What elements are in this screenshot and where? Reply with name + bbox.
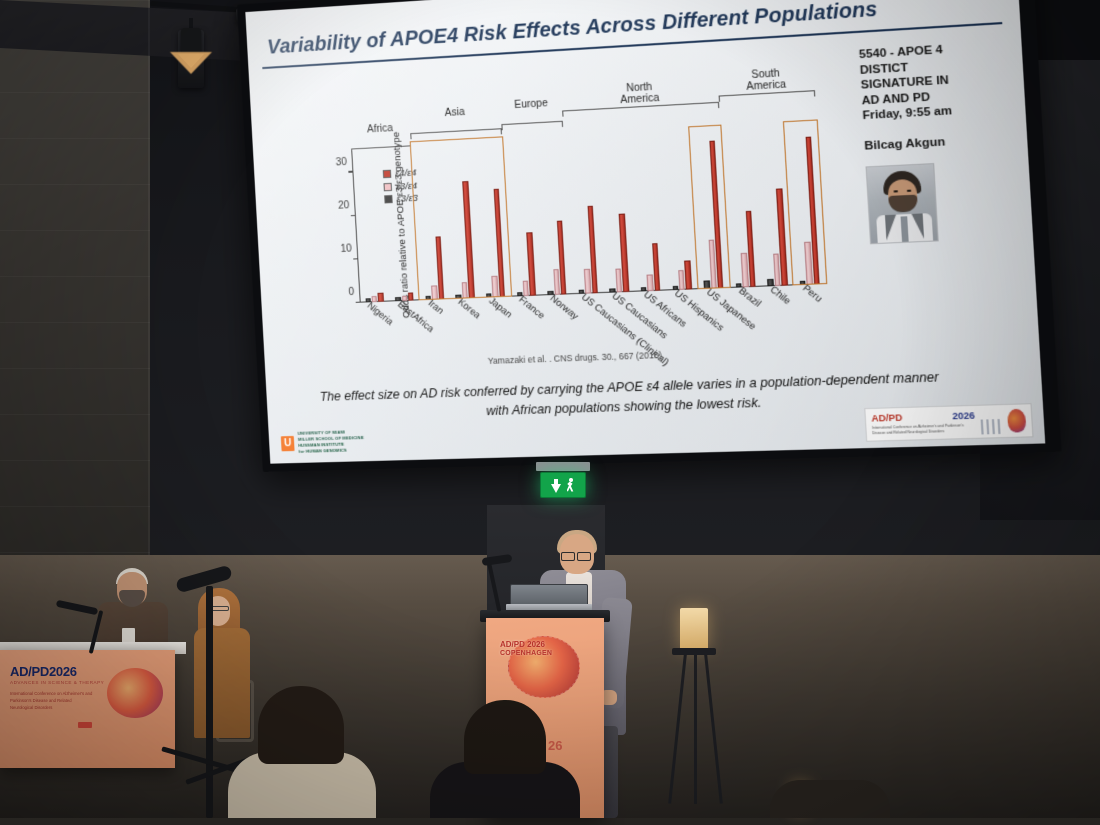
table-adpd-subtitle: International Conference on Alzheimer's … bbox=[10, 690, 94, 711]
bar-44-Korea bbox=[462, 181, 474, 298]
university-logo-text: UNIVERSITY OF MIAMI MILLER SCHOOL OF MED… bbox=[297, 429, 364, 455]
running-figure-icon bbox=[566, 478, 577, 493]
chart-plot-area: Odds ratio relative to APOE ε3/ε3 genoty… bbox=[351, 126, 826, 303]
x-label-Peru: Peru bbox=[801, 283, 825, 304]
brain-icon bbox=[1007, 409, 1027, 433]
audience-member-head bbox=[464, 700, 546, 774]
panelist-2-body bbox=[194, 628, 250, 738]
speaker-glasses bbox=[561, 552, 591, 559]
slide-caption: The effect size on AD risk conferred by … bbox=[312, 367, 948, 425]
table-adpd-letters: AD/PD bbox=[10, 664, 49, 679]
podium-branding: AD/PD 2026COPENHAGEN bbox=[500, 640, 552, 659]
lecture-hall-scene: Variability of APOE4 Risk Effects Across… bbox=[0, 0, 1100, 818]
boom-mic-pole bbox=[206, 586, 213, 818]
y-tick-10: 10 bbox=[340, 243, 352, 255]
table-adpd-year: 2026 bbox=[49, 664, 77, 679]
panel-table-banner: AD/PD2026 ADVANCES IN SCIENCE & THERAPY … bbox=[0, 650, 175, 768]
presenter-headshot bbox=[866, 163, 939, 244]
audience-member-body bbox=[770, 780, 890, 818]
y-tick-mark bbox=[348, 171, 353, 172]
table-brain-icon bbox=[107, 668, 163, 718]
source-citation: Yamazaki et al. . CNS drugs. 30., 667 (2… bbox=[488, 350, 665, 366]
session-info-panel: 5540 - APOE 4 DISTICT SIGNATURE IN AD AN… bbox=[859, 39, 1018, 245]
skyline-icon bbox=[981, 419, 1003, 434]
adpd-conference-banner: 2026 AD/PD International Conference on A… bbox=[864, 403, 1033, 442]
legend-item: ε3/ε3 bbox=[384, 193, 418, 205]
audience-member-head bbox=[258, 686, 344, 764]
legend-swatch bbox=[384, 195, 393, 203]
table-adpd-wordmark: AD/PD2026 bbox=[10, 664, 77, 679]
y-tick-mark bbox=[351, 214, 356, 215]
presenter-name: Bilcag Akgun bbox=[864, 133, 1012, 153]
region-bracket-Asia bbox=[410, 128, 502, 139]
chart-legend: ε4/ε4ε3/ε4ε3/ε3 bbox=[383, 167, 419, 207]
podium-year: 26 bbox=[548, 738, 562, 753]
legend-item: ε3/ε4 bbox=[383, 180, 417, 192]
y-tick-30: 30 bbox=[335, 156, 347, 168]
presentation-slide: Variability of APOE4 Risk Effects Across… bbox=[245, 0, 1045, 464]
adpd-letters: AD/PD bbox=[871, 412, 903, 423]
legend-label: ε3/ε4 bbox=[396, 180, 418, 191]
institute-line-2: for HUMAN GENOMICS bbox=[298, 447, 364, 455]
table-chip bbox=[78, 722, 92, 728]
legend-swatch bbox=[383, 170, 392, 178]
x-label-Korea: Korea bbox=[456, 297, 482, 321]
region-bracket-Europe bbox=[501, 121, 563, 130]
legend-swatch bbox=[383, 182, 392, 190]
x-label-Nigeria: Nigeria bbox=[366, 300, 396, 327]
sign-housing bbox=[536, 462, 590, 471]
emergency-exit-sign bbox=[540, 472, 586, 498]
table-lamp bbox=[680, 608, 708, 650]
x-label-Chile: Chile bbox=[768, 284, 793, 306]
y-tick-20: 20 bbox=[338, 199, 350, 211]
projection-screen: Variability of APOE4 Risk Effects Across… bbox=[250, 0, 1010, 480]
left-wall-panel bbox=[0, 0, 150, 560]
bar-groups bbox=[351, 126, 826, 303]
x-label-Japan: Japan bbox=[487, 295, 514, 319]
adpd-wordmark: 2026 AD/PD bbox=[871, 411, 975, 423]
podium-laptop-screen bbox=[510, 584, 588, 606]
table-adpd-tagline: ADVANCES IN SCIENCE & THERAPY bbox=[10, 680, 104, 685]
adpd-year: 2026 bbox=[952, 411, 975, 421]
wall-seam bbox=[148, 0, 150, 560]
table-leg bbox=[694, 654, 697, 804]
x-label-Iran: Iran bbox=[426, 298, 445, 316]
legend-item: ε4/ε4 bbox=[383, 167, 417, 179]
x-label-Norway: Norway bbox=[548, 293, 580, 322]
stage-light bbox=[170, 18, 212, 68]
adpd-subtitle: International Conference on Alzheimer's … bbox=[872, 423, 976, 436]
university-logo: U UNIVERSITY OF MIAMI MILLER SCHOOL OF M… bbox=[281, 429, 365, 455]
y-tick-mark bbox=[353, 258, 358, 259]
miami-u-icon: U bbox=[281, 436, 295, 451]
apoe4-odds-ratio-chart: AfricaAsiaEuropeNorthAmericaSouthAmerica… bbox=[294, 65, 831, 351]
y-tick-0: 0 bbox=[348, 286, 354, 297]
region-label-Asia: Asia bbox=[409, 106, 501, 122]
legend-label: ε3/ε3 bbox=[396, 193, 418, 204]
x-label-France: France bbox=[517, 294, 547, 321]
x-label-US-Caucasians: US Caucasians bbox=[610, 290, 670, 340]
region-label-Europe: Europe bbox=[500, 98, 562, 112]
x-label-Brazil: Brazil bbox=[736, 285, 762, 309]
legend-label: ε4/ε4 bbox=[395, 167, 417, 178]
